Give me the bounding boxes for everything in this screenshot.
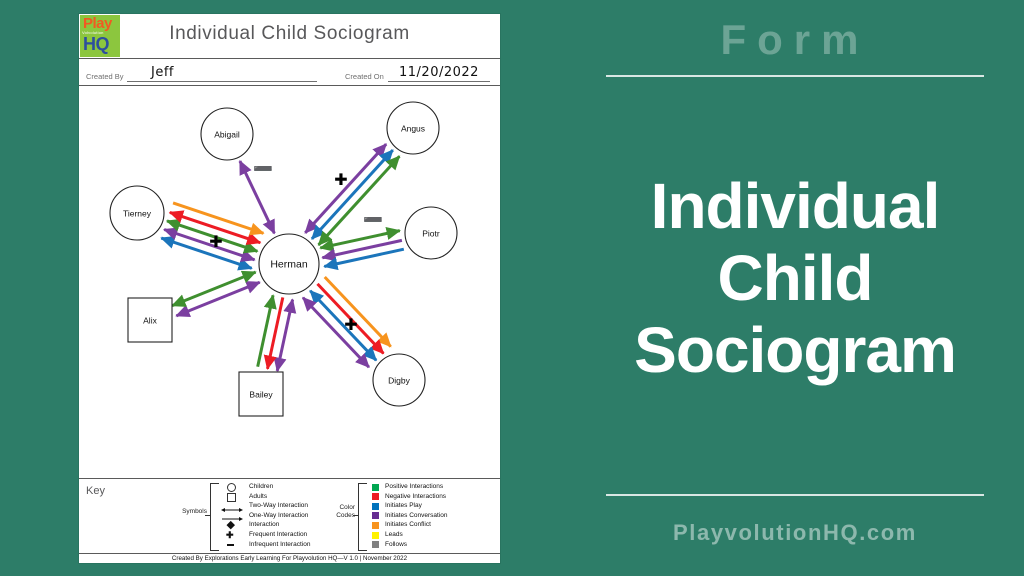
sociogram-edge (322, 240, 401, 257)
legend-symbol-label: One-Way Interaction (249, 511, 308, 521)
node-label: Abigail (214, 130, 240, 140)
node-label: Herman (270, 259, 308, 271)
legend-key: Key Symbols ChildrenAdultsTwo-Way Intera… (79, 478, 500, 554)
legend-color-label: Initiates Conversation (385, 511, 448, 521)
legend-symbol-label: Infrequent Interaction (249, 540, 310, 550)
panel-title-line-2: Child (580, 242, 1010, 314)
color-swatch (372, 522, 379, 529)
two-way-arrow-icon (219, 501, 245, 511)
sociogram-canvas[interactable]: AbigailAngusTierneyPiotrAlixBaileyDigbyH… (79, 86, 500, 494)
legend-symbol-label: Adults (249, 492, 267, 502)
legend-color-label: Initiates Conflict (385, 520, 431, 530)
panel-title-line-1: Individual (580, 170, 1010, 242)
symbols-brace (210, 483, 219, 551)
sociogram-node-abigail[interactable]: Abigail (201, 108, 253, 160)
color-swatch (372, 493, 379, 500)
created-by-rule (127, 80, 317, 82)
color-swatch (372, 503, 379, 510)
panel-divider-bottom (606, 494, 984, 496)
screenshot-root: Play Volvolution HQ Individual Child Soc… (0, 0, 1024, 576)
legend-symbol-label: Frequent Interaction (249, 530, 307, 540)
colors-brace (358, 483, 367, 551)
diamond-icon (219, 520, 245, 530)
panel-title: Individual Child Sociogram (580, 170, 1010, 386)
square-icon (219, 492, 245, 502)
panel-divider-top (606, 75, 984, 77)
sociogram-node-alix[interactable]: Alix (128, 298, 172, 342)
one-way-arrow-icon (219, 511, 245, 521)
form-title: Individual Child Sociogram (79, 23, 500, 45)
infrequent-interaction-marker: ➖ (253, 159, 273, 178)
legend-color-label: Follows (385, 540, 407, 550)
frequent-interaction-marker: ✚ (344, 315, 357, 334)
created-by-label: Created By (86, 72, 124, 81)
node-label: Piotr (422, 229, 440, 239)
sociogram-edge (320, 231, 399, 248)
created-by-value[interactable]: Jeff (151, 65, 174, 80)
created-on-value[interactable]: 11/20/2022 (399, 65, 479, 80)
color-codes-group-label: ColorCodes (315, 504, 355, 520)
symbols-brace-tick (205, 515, 210, 516)
node-label: Digby (388, 376, 410, 386)
legend-symbol-label: Children (249, 482, 273, 492)
sociogram-edge (303, 298, 369, 368)
colors-brace-tick (353, 515, 358, 516)
color-swatch (372, 532, 379, 539)
sociogram-edge (324, 249, 403, 266)
form-footer: Created By Explorations Early Learning F… (79, 554, 500, 563)
panel-kicker: Form (600, 14, 990, 66)
legend-color-label: Negative Interactions (385, 492, 446, 502)
sheet-header: Play Volvolution HQ Individual Child Soc… (79, 14, 500, 59)
frequent-interaction-marker: ✚ (209, 232, 222, 251)
sociogram-node-piotr[interactable]: Piotr (405, 207, 457, 259)
legend-symbol-label: Two-Way Interaction (249, 501, 308, 511)
sociogram-drawing: AbigailAngusTierneyPiotrAlixBaileyDigbyH… (79, 86, 500, 494)
key-heading: Key (86, 485, 105, 497)
created-on-rule (388, 80, 490, 82)
panel-site-name: PlayvolutionHQ.com (600, 520, 990, 546)
node-label: Angus (401, 124, 425, 134)
form-meta-row: Created By Jeff Created On 11/20/2022 (79, 59, 500, 86)
form-sheet: Play Volvolution HQ Individual Child Soc… (79, 14, 500, 563)
sociogram-node-angus[interactable]: Angus (387, 102, 439, 154)
color-swatch (372, 512, 379, 519)
sociogram-node-tierney[interactable]: Tierney (110, 186, 164, 240)
sociogram-edge (310, 291, 376, 361)
infrequent-interaction-marker: ➖ (363, 210, 383, 229)
frequent-interaction-marker: ✚ (334, 170, 347, 189)
node-label: Alix (143, 316, 157, 326)
legend-color-label: Positive Interactions (385, 482, 443, 492)
sociogram-edge (319, 156, 400, 245)
legend-color-label: Initiates Play (385, 501, 422, 511)
color-swatch (372, 484, 379, 491)
minus-icon (219, 540, 245, 550)
sociogram-node-herman[interactable]: Herman (259, 234, 319, 294)
sociogram-edge (325, 277, 391, 347)
legend-symbol-label: Interaction (249, 520, 279, 530)
circle-icon (219, 482, 245, 492)
node-label: Tierney (123, 209, 152, 219)
sociogram-node-bailey[interactable]: Bailey (239, 372, 283, 416)
symbols-group-label: Symbols (161, 508, 207, 516)
color-swatch (372, 541, 379, 548)
plus-icon: ✚ (219, 530, 245, 540)
panel-title-line-3: Sociogram (580, 314, 1010, 386)
created-on-label: Created On (345, 72, 384, 81)
node-label: Bailey (249, 390, 273, 400)
legend-color-label: Leads (385, 530, 403, 540)
sociogram-node-digby[interactable]: Digby (373, 354, 425, 406)
